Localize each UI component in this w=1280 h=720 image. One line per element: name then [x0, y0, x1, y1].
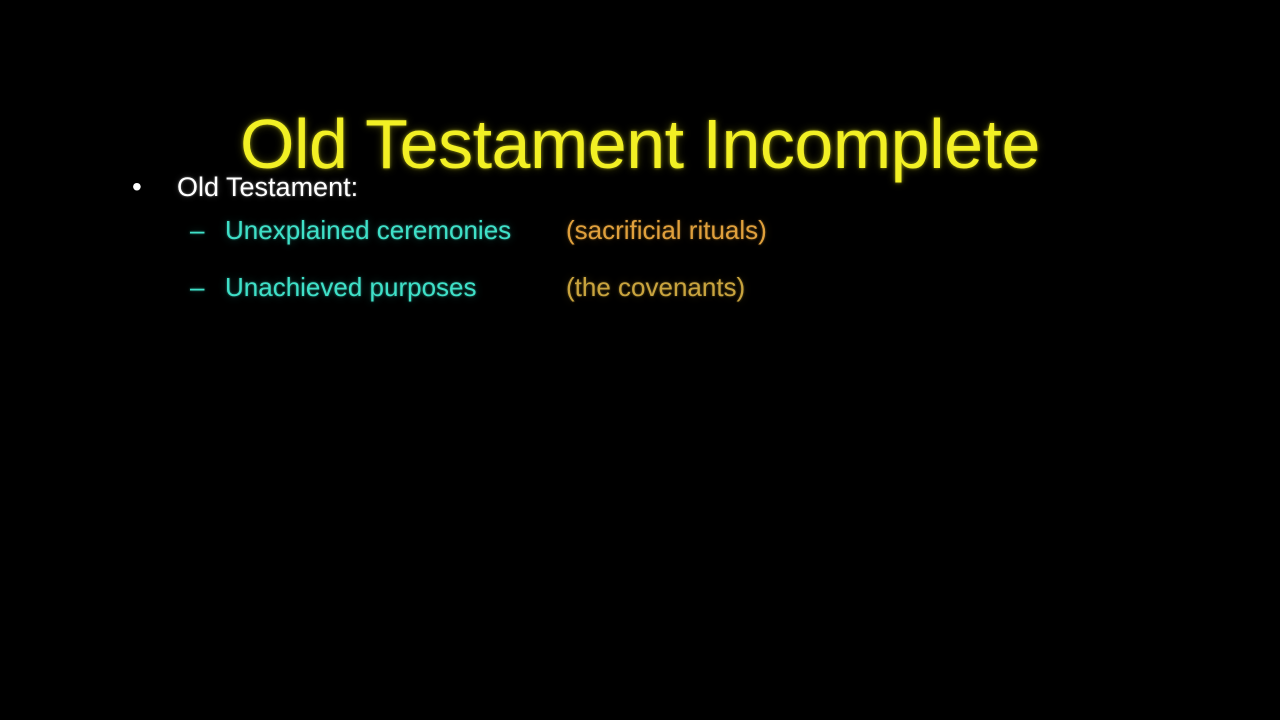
presentation-slide: Old Testament Incomplete • Old Testament…: [0, 0, 1280, 720]
bullet-dash-icon: –: [190, 265, 204, 309]
bullet-item-old-testament: • Old Testament:: [0, 168, 1280, 208]
bullet-dot-icon: •: [132, 168, 160, 206]
bullet-label-old-testament: Old Testament:: [177, 168, 358, 206]
slide-body-bullet-list: • Old Testament: – Unexplained ceremonie…: [0, 168, 1280, 322]
sub-bullet-item-unachieved-purposes: – Unachieved purposes (the covenants): [0, 265, 1280, 322]
sub-bullet-note-sacrificial-rituals: (sacrificial rituals): [566, 208, 767, 252]
sub-bullet-item-unexplained-ceremonies: – Unexplained ceremonies (sacrificial ri…: [0, 208, 1280, 265]
bullet-dash-icon: –: [190, 208, 204, 252]
sub-bullet-label-unexplained-ceremonies: Unexplained ceremonies: [225, 208, 511, 252]
sub-bullet-label-unachieved-purposes: Unachieved purposes: [225, 265, 477, 309]
sub-bullet-note-the-covenants: (the covenants): [566, 265, 745, 309]
